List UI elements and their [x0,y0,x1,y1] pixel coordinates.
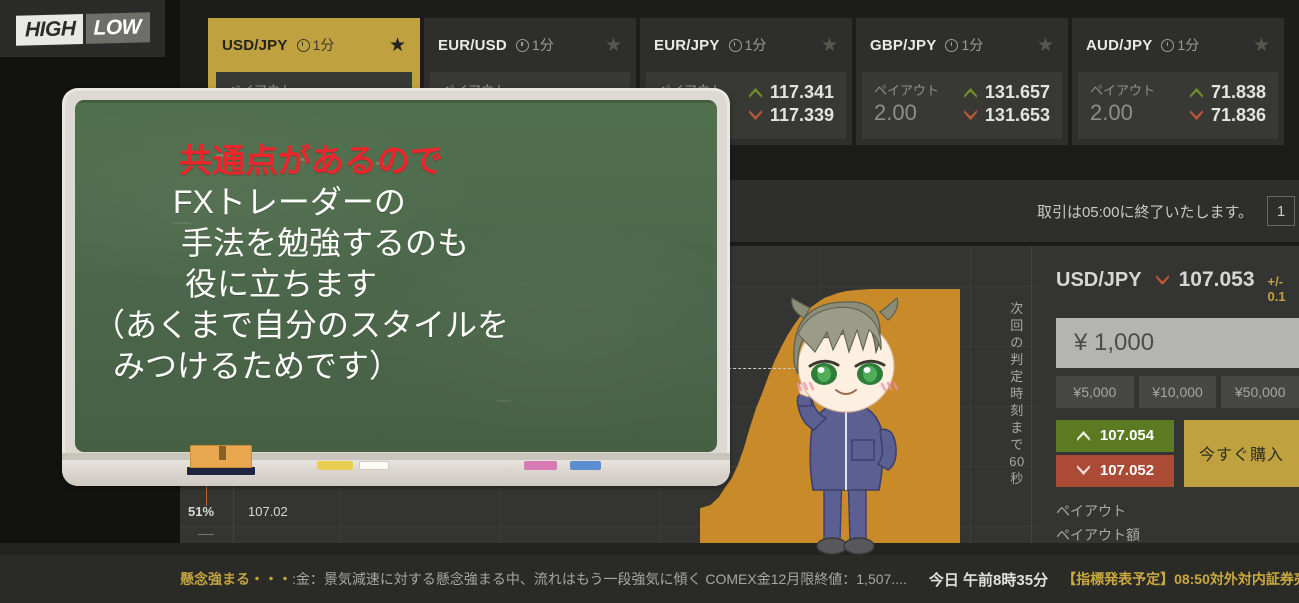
asset-pair-label: USD/JPY [222,37,288,54]
logo-high-text: HIGH [16,14,83,46]
chalk-yellow [317,461,353,470]
low-button[interactable]: 107.052 [1056,455,1174,487]
chevron-down-icon [1155,275,1170,286]
payout-rate-row: ペイアウト 2.00 [1056,499,1299,523]
star-icon[interactable]: ★ [821,36,838,55]
quote-bid-row: 117.341 [748,82,834,103]
chevron-down-icon [1076,465,1091,476]
blackboard-surface: 共通点があるので FXトレーダーの 手法を勉強するのも 役に立ちます （あくまで… [75,100,717,452]
asset-tab-body: ペイアウト 2.00 71.838 71.836 [1078,72,1278,139]
asset-pair-label: EUR/USD [438,37,507,54]
ticker-current-time: 今日 午前8時35分 [929,569,1048,590]
direction-area: 107.054 107.052 今すぐ購入 [1056,420,1299,487]
direction-buttons: 107.054 107.052 [1056,420,1174,487]
blackboard-text-block: 共通点があるので FXトレーダーの 手法を勉強するのも 役に立ちます （あくまで… [75,140,717,387]
asset-tab-audjpy[interactable]: AUD/JPY 1分 ★ ペイアウト 2.00 71 [1072,18,1284,145]
asset-duration: 1分 [297,35,335,55]
asset-duration-label: 1分 [313,35,335,55]
star-icon[interactable]: ★ [1037,36,1054,55]
asset-pair-label: AUD/JPY [1086,37,1152,54]
price-axis-label: 107.02 [248,504,288,519]
star-icon[interactable]: ★ [389,36,406,55]
payout-value: 2.00 [1090,100,1155,126]
news-ticker[interactable]: 懸念強まる・・・ :金：景気減速に対する懸念強まる中、流れはもう一段強気に傾く … [0,555,1299,603]
blackboard-eraser [190,445,252,475]
asset-tab-header: USD/JPY 1分 ★ [208,18,420,72]
blackboard-line-1: 共通点があるので [93,140,699,182]
payout-rate-label: ペイアウト [1056,499,1126,523]
amount-preset-chips: ¥5,000 ¥10,000 ¥50,000 [1056,376,1299,408]
sentiment-percent: 51% [188,504,214,519]
blackboard-overlay: 共通点があるので FXトレーダーの 手法を勉強するのも 役に立ちます （あくまで… [62,88,730,486]
asset-tab-gbpjpy[interactable]: GBP/JPY 1分 ★ ペイアウト 2.00 13 [856,18,1068,145]
order-price-value: 107.053 [1179,268,1255,292]
judgement-countdown: 次回の判定時刻まで60秒 [1004,300,1030,487]
high-button[interactable]: 107.054 [1056,420,1174,452]
payout-value: 2.00 [874,100,939,126]
quote-ask: 117.339 [770,105,834,126]
blackboard-line-5: （あくまで自分のスタイルを [93,305,699,346]
order-current-price: 107.053 [1155,268,1255,292]
blackboard-line-6: みつけるためです） [93,346,699,387]
quote-bid-row: 131.657 [963,82,1050,103]
asset-duration-label: 1分 [745,35,767,55]
asset-pair-label: EUR/JPY [654,37,720,54]
asset-tab-body: ペイアウト 2.00 131.657 131.653 [862,72,1062,139]
asset-tab-header: EUR/JPY 1分 ★ [640,18,852,72]
clock-icon [516,39,529,52]
ticker-economic-alert: 【指標発表予定】08:50対外対内証券売買契 [1062,569,1299,589]
low-button-price: 107.052 [1100,462,1154,479]
asset-duration: 1分 [945,35,983,55]
asset-duration-label: 1分 [1177,35,1199,55]
chalk-tray-lip [62,453,730,460]
chalk-blue [570,461,601,470]
quote-ask: 71.836 [1211,105,1266,126]
chevron-down-icon [1189,110,1204,121]
quote-ask-row: 71.836 [1189,105,1266,126]
order-panel: USD/JPY 107.053 +/- 0.1 ¥ 1,000 ¥5,000 ¥… [1036,246,1299,546]
amount-chip-5000[interactable]: ¥5,000 [1056,376,1134,408]
quote-bid: 131.657 [985,82,1050,103]
quote-ask: 131.653 [985,105,1050,126]
chevron-down-icon [963,110,978,121]
asset-pair-label: GBP/JPY [870,37,936,54]
news-ticker-content: 懸念強まる・・・ :金：景気減速に対する懸念強まる中、流れはもう一段強気に傾く … [0,569,1299,590]
trading-app-screenshot: HIGH LOW USD/JPY 1分 ★ ペイアウト [0,0,1299,603]
payout-label: ペイアウト [1090,82,1155,100]
quote-ask-row: 117.339 [748,105,834,126]
duration-selector-box[interactable]: 1 [1267,196,1295,226]
chalk-dust [495,400,513,402]
payout-label: ペイアウト [874,82,939,100]
asset-duration: 1分 [729,35,767,55]
character-illustration [762,288,934,560]
chevron-down-icon [748,110,763,121]
order-price-delta: +/- 0.1 [1268,274,1299,304]
star-icon[interactable]: ★ [605,36,622,55]
amount-chip-10000[interactable]: ¥10,000 [1139,376,1217,408]
asset-duration: 1分 [516,35,554,55]
highlow-logo[interactable]: HIGH LOW [0,0,165,57]
quote-bid: 71.838 [1211,82,1266,103]
buy-now-button[interactable]: 今すぐ購入 [1184,420,1299,487]
chevron-up-icon [1189,87,1204,98]
star-icon[interactable]: ★ [1253,36,1270,55]
clock-icon [945,39,958,52]
quote-bid: 117.341 [770,82,834,103]
quote-column: 131.657 131.653 [963,82,1050,126]
clock-icon [729,39,742,52]
asset-tab-header: GBP/JPY 1分 ★ [856,18,1068,72]
quote-ask-row: 131.653 [963,105,1050,126]
chevron-up-icon [963,87,978,98]
axis-dash [198,534,214,535]
quote-column: 117.341 117.339 [748,82,834,126]
payout-column: ペイアウト 2.00 [1090,82,1155,126]
chevron-up-icon [748,87,763,98]
blackboard-line-3: 手法を勉強するのも [93,223,699,264]
chart-right-border [1031,246,1032,546]
eraser-base [187,467,255,475]
ticker-headline: 懸念強まる・・・ [180,569,292,589]
high-button-price: 107.054 [1100,427,1154,444]
trade-close-notice: 取引は05:00に終了いたします。 [1037,201,1253,222]
payout-summary: ペイアウト 2.00 ペイアウト額 ¥2,000 [1056,499,1299,547]
chalk-white [359,461,389,470]
chart-gridline [970,246,971,546]
eraser-seam [219,446,226,460]
order-pair-label: USD/JPY [1056,269,1142,292]
chevron-up-icon [1076,430,1091,441]
asset-tab-header: AUD/JPY 1分 ★ [1072,18,1284,72]
asset-duration-label: 1分 [961,35,983,55]
ticker-top-strip [0,543,1299,555]
asset-tab-header: EUR/USD 1分 ★ [424,18,636,72]
amount-chip-50000[interactable]: ¥50,000 [1221,376,1299,408]
chalk-tray [62,453,730,486]
ticker-body: :金：景気減速に対する懸念強まる中、流れはもう一段強気に傾く COMEX金12月… [292,569,907,589]
payout-column: ペイアウト 2.00 [874,82,939,126]
asset-duration: 1分 [1161,35,1199,55]
clock-icon [1161,39,1174,52]
quote-bid-row: 71.838 [1189,82,1266,103]
blackboard-line-4: 役に立ちます [93,264,699,305]
quote-column: 71.838 71.836 [1189,82,1266,126]
logo-low-text: LOW [85,12,149,44]
trade-amount-input[interactable]: ¥ 1,000 [1056,318,1299,368]
clock-icon [297,39,310,52]
blackboard-line-2: FXトレーダーの [93,182,699,223]
order-panel-header: USD/JPY 107.053 +/- 0.1 [1056,268,1299,304]
eraser-top [190,445,252,468]
asset-duration-label: 1分 [532,35,554,55]
chalk-pink [524,461,557,470]
